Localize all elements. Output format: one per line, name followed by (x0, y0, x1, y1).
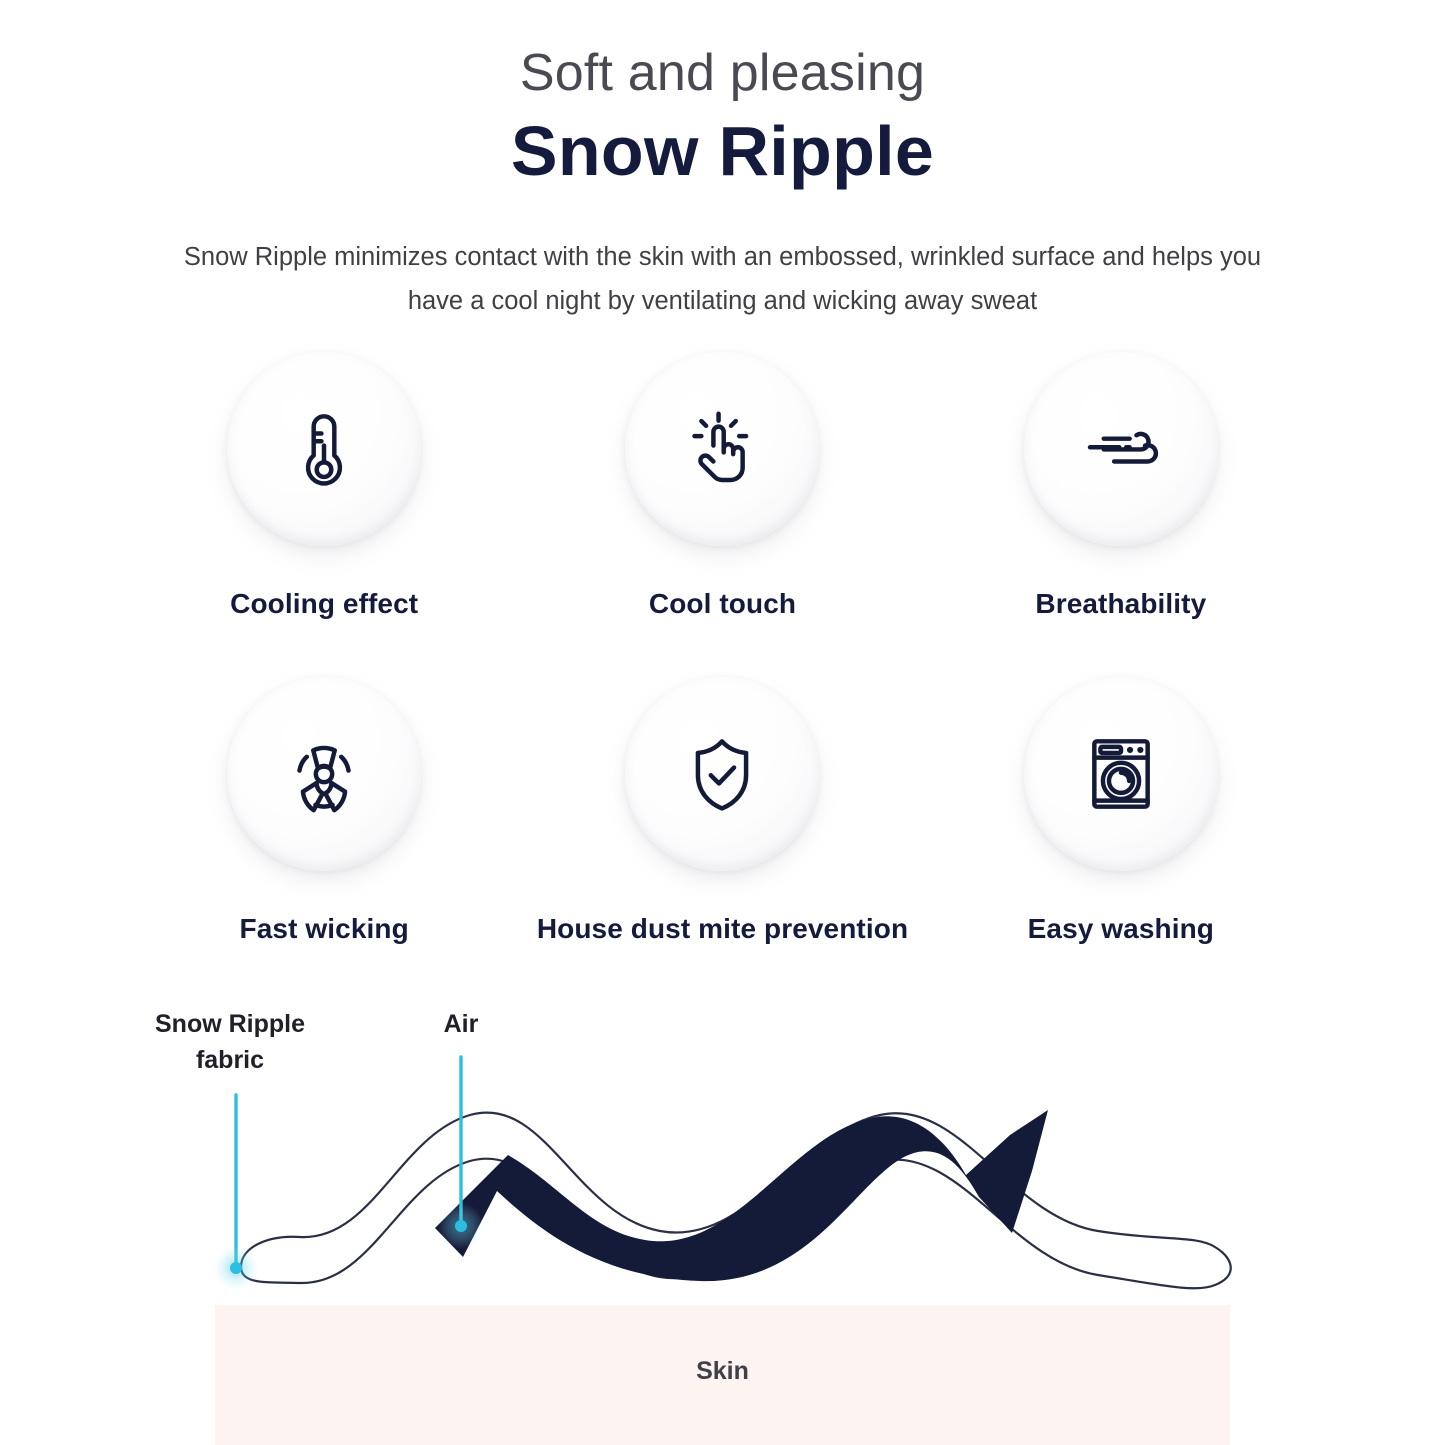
callout-label-fabric: Snow Ripple fabric (120, 1007, 340, 1078)
feature-badge (625, 677, 819, 871)
feature-item-cooling-effect: Cooling effect (125, 352, 523, 677)
washing-machine-icon (1078, 731, 1164, 817)
page-title: Snow Ripple (0, 102, 1445, 190)
shield-check-icon (679, 731, 765, 817)
feature-item-dust-mite-prevention: House dust mite prevention (523, 677, 921, 1002)
wind-icon (1078, 406, 1164, 492)
feature-label: Easy washing (1028, 913, 1214, 945)
feature-item-easy-washing: Easy washing (922, 677, 1320, 1002)
page-root: Soft and pleasing Snow Ripple Snow Rippl… (0, 0, 1445, 1445)
feature-grid: Cooling effect Cool touch (125, 352, 1320, 1002)
feature-item-fast-wicking: Fast wicking (125, 677, 523, 1002)
feature-badge (227, 352, 421, 546)
feature-label: Cooling effect (230, 588, 418, 620)
skin-label: Skin (215, 1357, 1230, 1386)
feature-badge (1024, 352, 1218, 546)
feature-item-breathability: Breathability (922, 352, 1320, 677)
callout-dot-air (455, 1220, 467, 1232)
thermometer-icon (281, 406, 367, 492)
feature-label: House dust mite prevention (537, 913, 908, 945)
feature-item-cool-touch: Cool touch (523, 352, 921, 677)
skin-band: Skin (215, 1305, 1230, 1445)
feature-label: Breathability (1035, 588, 1206, 620)
page-header: Soft and pleasing Snow Ripple (0, 0, 1445, 191)
feature-badge (625, 352, 819, 546)
feature-badge (227, 677, 421, 871)
fan-propeller-icon (281, 731, 367, 817)
feature-label: Cool touch (649, 588, 796, 620)
feature-label: Fast wicking (240, 913, 409, 945)
callout-label-air: Air (375, 1007, 547, 1043)
eyebrow-text: Soft and pleasing (0, 0, 1445, 102)
feature-badge (1024, 677, 1218, 871)
tap-hand-icon (679, 406, 765, 492)
airflow-diagram: Snow Ripple fabric Air Skin (0, 985, 1445, 1445)
callout-dot-fabric (230, 1262, 242, 1274)
page-subtitle: Snow Ripple minimizes contact with the s… (168, 236, 1278, 324)
